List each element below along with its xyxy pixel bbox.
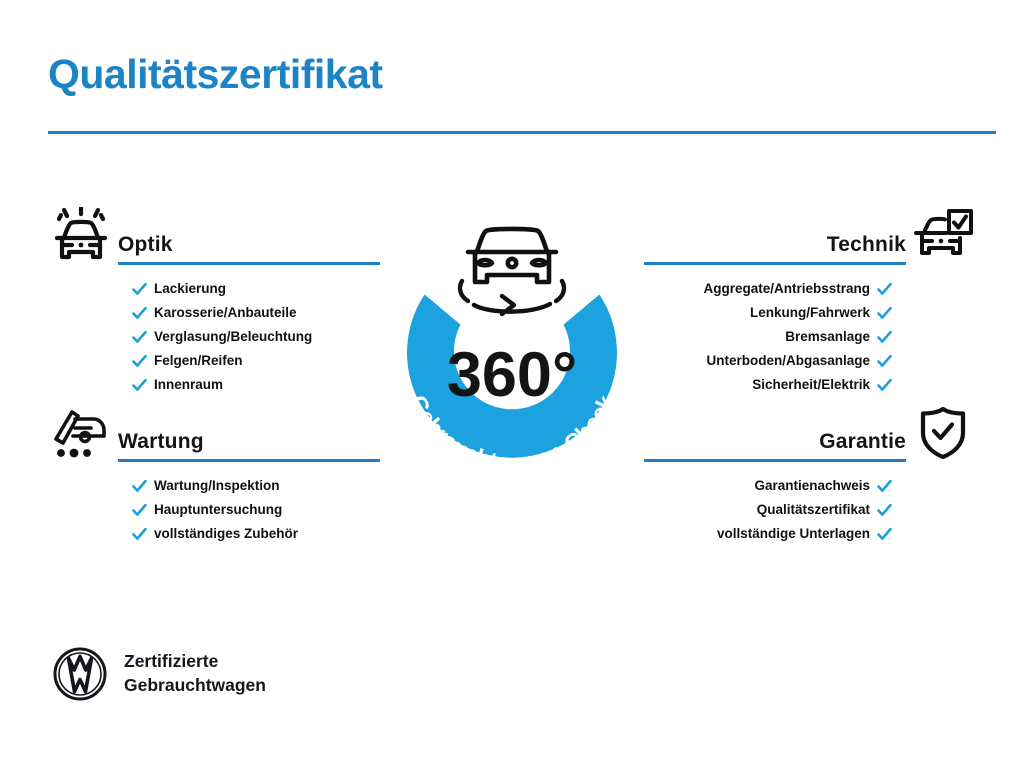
title-divider [48,131,996,134]
checklist: Garantienachweis Qualitätszertifikat vol… [644,464,980,546]
section-optik: Optik Lackierung Karosserie/Anbauteile V… [44,205,380,397]
page-title: Qualitätszertifikat [48,52,383,97]
list-item-label: Sicherheit/Elektrik [752,378,870,392]
check-icon [132,354,147,369]
list-item-label: Unterboden/Abgasanlage [706,354,870,368]
section-underline [644,262,906,265]
section-underline [644,459,906,462]
car-on-lift-icon [44,402,118,464]
check-icon [877,527,892,542]
section-header: Garantie [644,402,980,464]
checklist: Wartung/Inspektion Hauptuntersuchung vol… [44,464,380,546]
volkswagen-logo [52,646,108,702]
list-item: Lackierung [44,277,380,301]
check-icon [877,378,892,393]
footer-logo-line2: Gebrauchtwagen [124,674,266,698]
check-icon [132,378,147,393]
list-item: Unterboden/Abgasanlage [644,349,980,373]
check-icon [877,503,892,518]
badge-center-label: 360° [447,340,577,410]
check-icon [132,503,147,518]
list-item: Sicherheit/Elektrik [644,373,980,397]
list-item-label: Karosserie/Anbauteile [154,306,297,320]
check-icon [132,479,147,494]
section-title: Wartung [118,430,380,459]
list-item-label: Bremsanlage [785,330,870,344]
list-item: Garantienachweis [644,474,980,498]
section-header: Technik [644,205,980,267]
list-item-label: Lackierung [154,282,226,296]
section-title-wrap: Wartung [118,430,380,464]
check-icon [132,282,147,297]
list-item-label: Innenraum [154,378,223,392]
car-front-headlights-icon [44,205,118,267]
section-garantie: Garantie Garantienachweis Qualitätszerti… [644,402,980,546]
list-item-label: Verglasung/Beleuchtung [154,330,312,344]
footer-logo: Zertifizierte Gebrauchtwagen [52,646,266,702]
section-underline [118,459,380,462]
list-item: Felgen/Reifen [44,349,380,373]
section-title: Garantie [644,430,906,459]
list-item: Aggregate/Antriebsstrang [644,277,980,301]
list-item: Innenraum [44,373,380,397]
section-technik: Technik Aggregate/Antriebsstrang Lenkung… [644,205,980,397]
list-item: vollständiges Zubehör [44,522,380,546]
section-title-wrap: Optik [118,233,380,267]
section-title-wrap: Garantie [644,430,906,464]
check-icon [877,282,892,297]
section-header: Wartung [44,402,380,464]
check-icon [132,330,147,345]
section-title: Optik [118,233,380,262]
check-icon [877,306,892,321]
check-icon [132,527,147,542]
list-item: Wartung/Inspektion [44,474,380,498]
checklist: Aggregate/Antriebsstrang Lenkung/Fahrwer… [644,267,980,397]
section-header: Optik [44,205,380,267]
list-item-label: Felgen/Reifen [154,354,243,368]
list-item-label: Aggregate/Antriebsstrang [703,282,870,296]
badge-360-gebrauchtwagen-check: 360° Gebrauchtwagen-Check [372,200,652,500]
list-item: Karosserie/Anbauteile [44,301,380,325]
list-item-label: Lenkung/Fahrwerk [750,306,870,320]
checklist: Lackierung Karosserie/Anbauteile Verglas… [44,267,380,397]
section-title: Technik [644,233,906,262]
shield-check-icon [906,402,980,464]
list-item: Bremsanlage [644,325,980,349]
list-item: Hauptuntersuchung [44,498,380,522]
list-item-label: Hauptuntersuchung [154,503,282,517]
list-item-label: Garantienachweis [754,479,870,493]
list-item-label: vollständige Unterlagen [717,527,870,541]
car-front-rotate-icon [460,229,564,314]
list-item: vollständige Unterlagen [644,522,980,546]
list-item: Lenkung/Fahrwerk [644,301,980,325]
check-icon [132,306,147,321]
footer-logo-line1: Zertifizierte [124,650,266,674]
car-front-checkbox-icon [906,205,980,267]
check-icon [877,479,892,494]
list-item-label: vollständiges Zubehör [154,527,298,541]
section-title-wrap: Technik [644,233,906,267]
check-icon [877,354,892,369]
footer-logo-text: Zertifizierte Gebrauchtwagen [124,650,266,697]
section-wartung: Wartung Wartung/Inspektion Hauptuntersuc… [44,402,380,546]
list-item-label: Wartung/Inspektion [154,479,280,493]
section-underline [118,262,380,265]
check-icon [877,330,892,345]
list-item-label: Qualitätszertifikat [757,503,870,517]
list-item: Qualitätszertifikat [644,498,980,522]
list-item: Verglasung/Beleuchtung [44,325,380,349]
